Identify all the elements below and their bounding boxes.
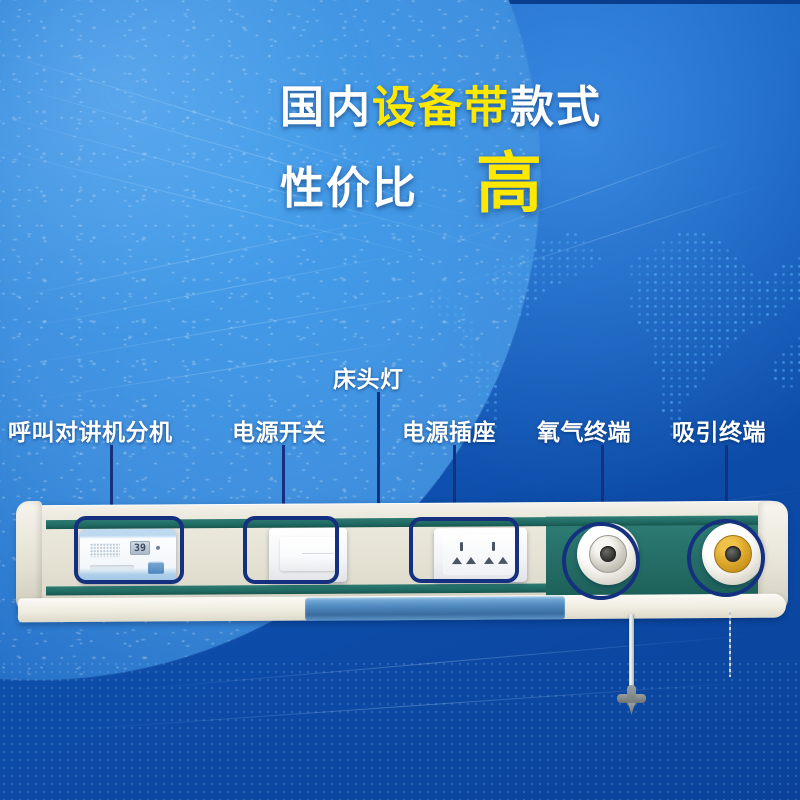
callout-circle-oxygen <box>562 522 640 600</box>
headline-line-1: 国内设备带款式 <box>280 86 780 130</box>
headline-seg-1: 国内 <box>280 83 372 132</box>
unit-endcap-left <box>16 501 42 613</box>
callout-box-socket <box>409 517 519 583</box>
bottom-dot-map <box>0 660 800 800</box>
headline-block: 国内设备带款式 性价比 高 <box>280 86 780 216</box>
callout-box-switch <box>243 516 339 584</box>
label-power-switch: 电源开关 <box>232 413 326 447</box>
rod-hook-icon <box>617 685 646 715</box>
hanging-rod <box>629 614 634 688</box>
label-call-intercom-extension: 呼叫对讲机分机 <box>8 413 173 447</box>
callout-circle-suction <box>687 519 765 597</box>
headline-seg-3: 款式 <box>510 83 602 132</box>
headline-value-label: 性价比 <box>280 152 418 216</box>
hanging-wire <box>729 609 731 677</box>
label-suction-terminal: 吸引终端 <box>672 413 766 447</box>
callout-box-intercom <box>74 516 184 584</box>
headline-seg-2: 设备带 <box>372 83 510 132</box>
label-oxygen-terminal: 氧气终端 <box>537 413 631 447</box>
headline-emphasis: 高 <box>476 154 543 213</box>
label-bed-lamp: 床头灯 <box>333 360 404 394</box>
unit-blue-rail <box>305 596 565 621</box>
dot-field-left <box>0 330 260 480</box>
label-power-socket: 电源插座 <box>402 413 496 447</box>
poster-canvas: 国内设备带款式 性价比 高 呼叫对讲机分机 电源开关 床头灯 电源插座 氧气终端… <box>0 0 800 800</box>
headline-line-2: 性价比 高 <box>280 152 780 216</box>
